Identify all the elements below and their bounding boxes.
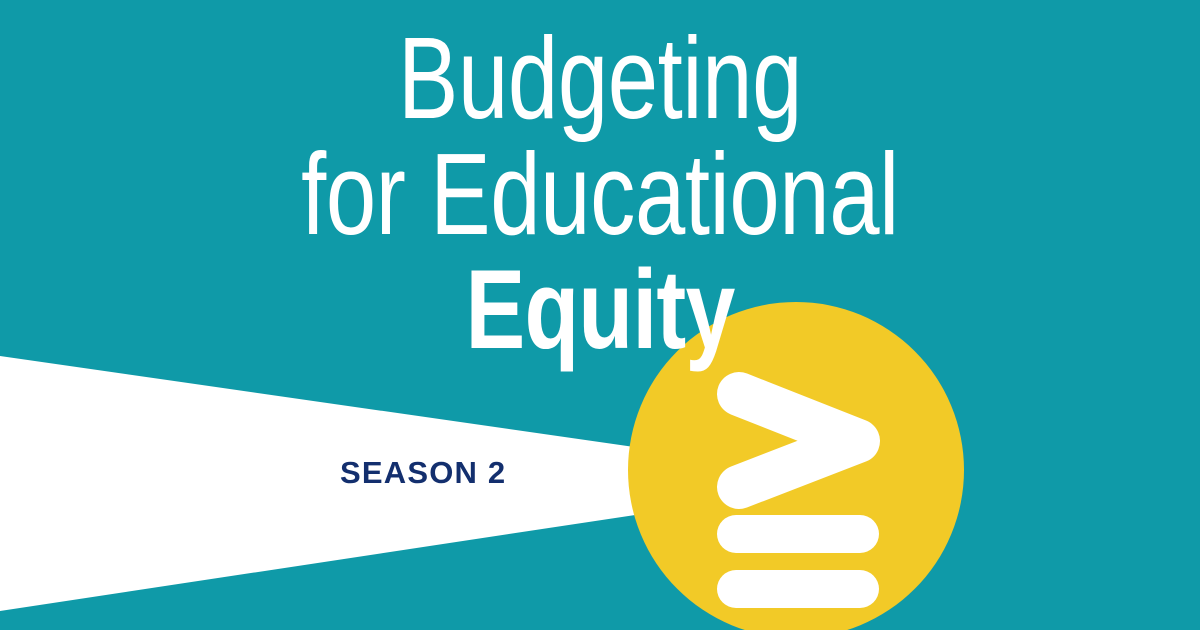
white-beam-shape	[0, 356, 648, 611]
title-line-1: Budgeting	[132, 22, 1068, 136]
season-label: SEASON 2	[340, 455, 506, 491]
equal-bar-top	[717, 515, 879, 553]
title-line-3: Equity	[120, 255, 1080, 365]
poster-title: Budgeting for Educational Equity	[0, 0, 1200, 365]
title-line-2: for Educational	[132, 138, 1068, 252]
equal-bar-bottom	[717, 570, 879, 608]
podcast-cover-poster: Budgeting for Educational Equity SEASON …	[0, 0, 1200, 630]
